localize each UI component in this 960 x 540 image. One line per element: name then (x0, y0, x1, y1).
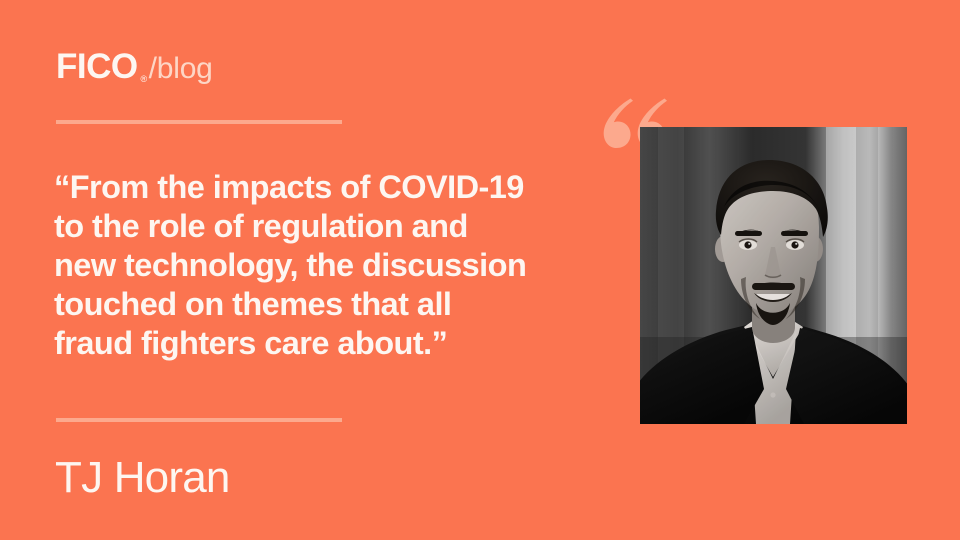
brand-name: FICO (56, 47, 138, 86)
divider-top (56, 120, 342, 124)
brand-lockup[interactable]: FICO® /blog (56, 49, 213, 84)
divider-bottom (56, 418, 342, 422)
quote-line-3: new technology, the discussion (54, 246, 594, 285)
quote-line-4: touched on themes that all (54, 285, 594, 324)
quote-line-2: to the role of regulation and (54, 207, 594, 246)
fico-wordmark-logo: FICO® (56, 49, 138, 84)
brand-section-label: /blog (149, 54, 213, 84)
quote-line-1: “From the impacts of COVID-19 (54, 168, 594, 207)
quote-line-5: fraud fighters care about.” (54, 324, 594, 363)
quote-card: FICO® /blog “From the impacts of COVID-1… (0, 0, 960, 540)
registered-trademark-icon: ® (140, 75, 146, 84)
quote-text: “From the impacts of COVID-19 to the rol… (54, 168, 594, 363)
portrait-photo (640, 127, 907, 424)
attribution-name: TJ Horan (55, 452, 230, 504)
